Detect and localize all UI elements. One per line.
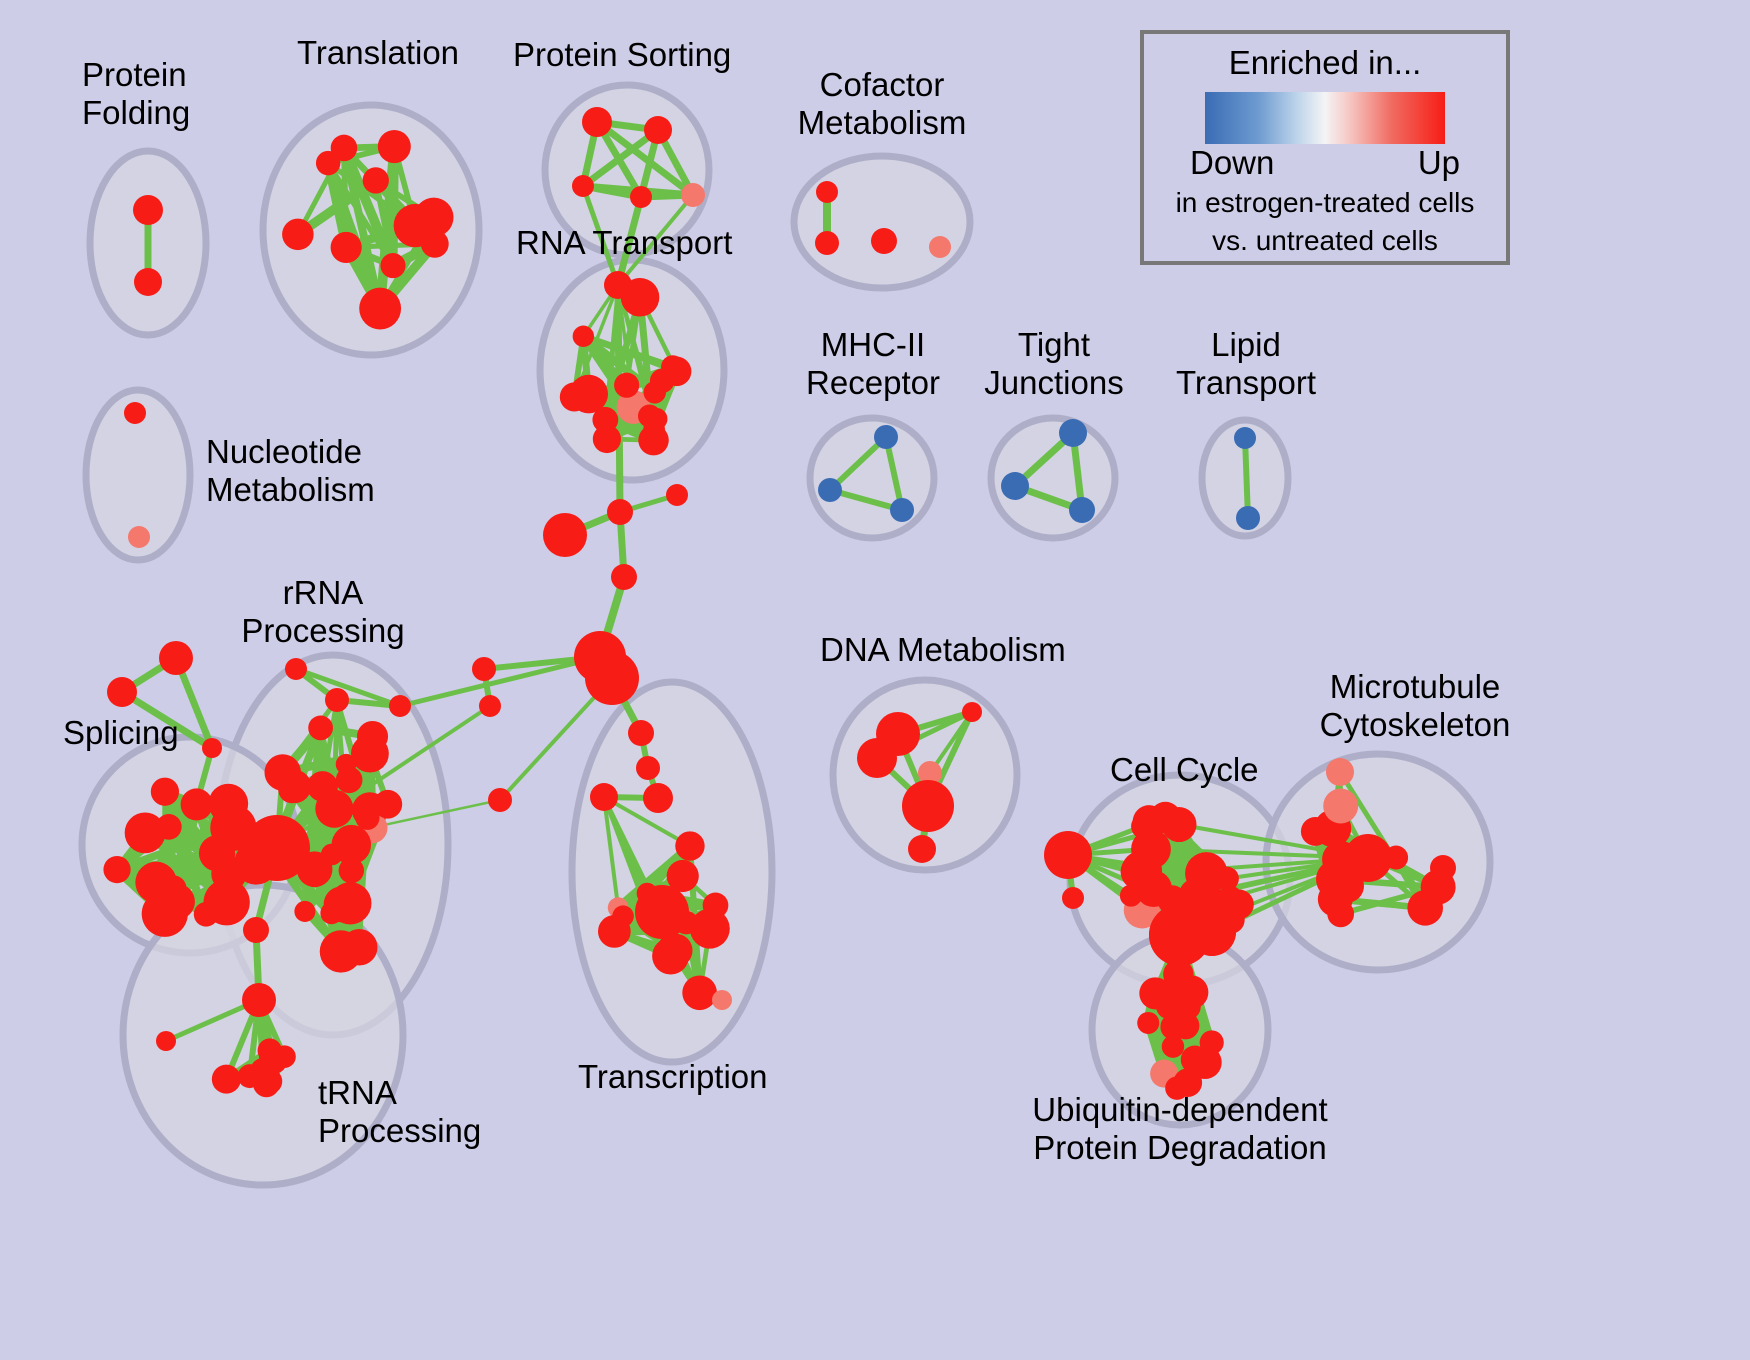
network-node [1181, 1046, 1209, 1074]
network-node [331, 135, 358, 162]
network-node [244, 815, 310, 881]
network-node [253, 1070, 280, 1097]
network-node [962, 702, 982, 722]
network-node [650, 369, 674, 393]
network-node [630, 186, 652, 208]
network-node [1188, 908, 1236, 956]
legend-caption-line-1: in estrogen-treated cells [1144, 186, 1506, 220]
network-node [125, 812, 166, 853]
network-node [321, 844, 343, 866]
network-node [1301, 817, 1330, 846]
network-node [294, 901, 315, 922]
network-node [380, 253, 405, 278]
cluster-label-lipid-transport: LipidTransport [1152, 326, 1340, 402]
network-node [107, 677, 137, 707]
network-node [598, 915, 631, 948]
legend-down-label: Down [1190, 144, 1274, 182]
network-node [243, 917, 269, 943]
network-node [212, 1065, 241, 1094]
network-node [929, 236, 951, 258]
cluster-ellipse [794, 156, 970, 288]
network-node [389, 695, 411, 717]
legend-caption-line-2: vs. untreated cells [1144, 224, 1506, 258]
network-node [908, 835, 936, 863]
network-node [124, 402, 146, 424]
cluster-label-dna-metabolism: DNA Metabolism [820, 631, 1066, 669]
network-edge [1245, 438, 1248, 518]
network-node [135, 862, 177, 904]
network-node [1059, 419, 1087, 447]
network-node [635, 885, 689, 939]
network-node [871, 228, 897, 254]
network-node [582, 107, 612, 137]
network-node [1318, 882, 1353, 917]
network-node [614, 373, 639, 398]
network-node [194, 902, 219, 927]
network-node [472, 657, 496, 681]
legend-colorbar [1205, 92, 1445, 144]
network-node [628, 720, 654, 746]
network-node [479, 695, 501, 717]
network-node [329, 882, 371, 924]
cluster-label-protein-sorting: Protein Sorting [513, 36, 731, 74]
network-node [1430, 855, 1456, 881]
network-node [815, 231, 839, 255]
network-node [315, 790, 353, 828]
cluster-label-rrna-processing: rRNAProcessing [228, 574, 418, 650]
network-node [394, 204, 437, 247]
cluster-label-ubiquitin-degradation: Ubiquitin-dependentProtein Degradation [985, 1091, 1375, 1167]
network-node [1236, 506, 1260, 530]
legend-up-label: Up [1418, 144, 1460, 182]
network-node [593, 425, 621, 453]
network-node [682, 975, 717, 1010]
network-node [857, 738, 897, 778]
network-node [341, 929, 377, 965]
network-node [569, 375, 608, 414]
network-node [1001, 472, 1029, 500]
network-node [209, 784, 249, 824]
cluster-ellipse [810, 418, 934, 538]
network-node [1326, 758, 1354, 786]
network-node [1121, 853, 1157, 889]
network-node [643, 783, 673, 813]
cluster-label-transcription: Transcription [578, 1058, 768, 1096]
network-node [874, 425, 898, 449]
network-node [202, 738, 222, 758]
network-node [1062, 887, 1084, 909]
network-node [1323, 789, 1358, 824]
network-node [611, 564, 637, 590]
cluster-label-nucleotide-metabolism: NucleotideMetabolism [206, 433, 375, 509]
network-figure: ProteinFolding Translation Protein Sorti… [0, 0, 1750, 1360]
network-node [543, 513, 587, 557]
network-node [573, 326, 594, 347]
cluster-label-mhc-ii-receptor: MHC-IIReceptor [782, 326, 964, 402]
network-node [355, 806, 379, 830]
cluster-label-cofactor-metabolism: CofactorMetabolism [782, 66, 982, 142]
network-node [278, 770, 311, 803]
network-node [128, 526, 150, 548]
network-node [488, 788, 512, 812]
cluster-label-cell-cycle: Cell Cycle [1110, 751, 1259, 789]
cluster-label-protein-folding: ProteinFolding [82, 56, 190, 132]
network-node [181, 788, 213, 820]
network-node [681, 183, 705, 207]
cluster-label-tight-junctions: TightJunctions [967, 326, 1141, 402]
legend-endpoints: Down Up [1190, 144, 1460, 182]
cluster-label-rna-transport: RNA Transport [516, 224, 732, 262]
network-node [151, 778, 179, 806]
network-node [258, 1038, 282, 1062]
network-node [636, 756, 660, 780]
network-node [675, 831, 704, 860]
network-node [325, 688, 349, 712]
cluster-label-translation: Translation [297, 34, 459, 72]
network-node [133, 195, 163, 225]
network-node [331, 232, 362, 263]
network-node [607, 499, 633, 525]
network-node [712, 990, 732, 1010]
network-node [638, 425, 669, 456]
network-node [638, 404, 661, 427]
network-node [666, 484, 688, 506]
network-node [890, 498, 914, 522]
network-node [644, 116, 672, 144]
legend-title: Enriched in... [1144, 44, 1506, 82]
network-node [1044, 831, 1092, 879]
network-node [285, 658, 307, 680]
network-node [134, 268, 162, 296]
network-node [1137, 1012, 1159, 1034]
legend-box: Enriched in... Down Up in estrogen-treat… [1140, 30, 1510, 265]
network-node [1344, 834, 1392, 882]
network-node [282, 219, 314, 251]
cluster-label-trna-processing: tRNAProcessing [318, 1074, 481, 1150]
network-node [308, 716, 333, 741]
network-node [585, 651, 639, 705]
network-node [604, 271, 632, 299]
network-node [378, 130, 411, 163]
network-node [590, 783, 618, 811]
network-node [363, 167, 389, 193]
network-node [1162, 1035, 1184, 1057]
network-node [357, 721, 388, 752]
network-node [242, 983, 276, 1017]
network-node [816, 181, 838, 203]
network-node [159, 641, 193, 675]
network-node [1156, 993, 1182, 1019]
network-node [156, 1031, 176, 1051]
network-node [103, 856, 130, 883]
network-node [1234, 427, 1256, 449]
network-node [818, 478, 842, 502]
network-node [359, 288, 401, 330]
network-node [1133, 805, 1166, 838]
network-node [1069, 497, 1095, 523]
network-node [902, 780, 954, 832]
network-node [572, 175, 594, 197]
network-node [703, 892, 729, 918]
cluster-label-microtubule-cytoskeleton: MicrotubuleCytoskeleton [1290, 668, 1540, 744]
cluster-label-splicing: Splicing [63, 714, 179, 752]
